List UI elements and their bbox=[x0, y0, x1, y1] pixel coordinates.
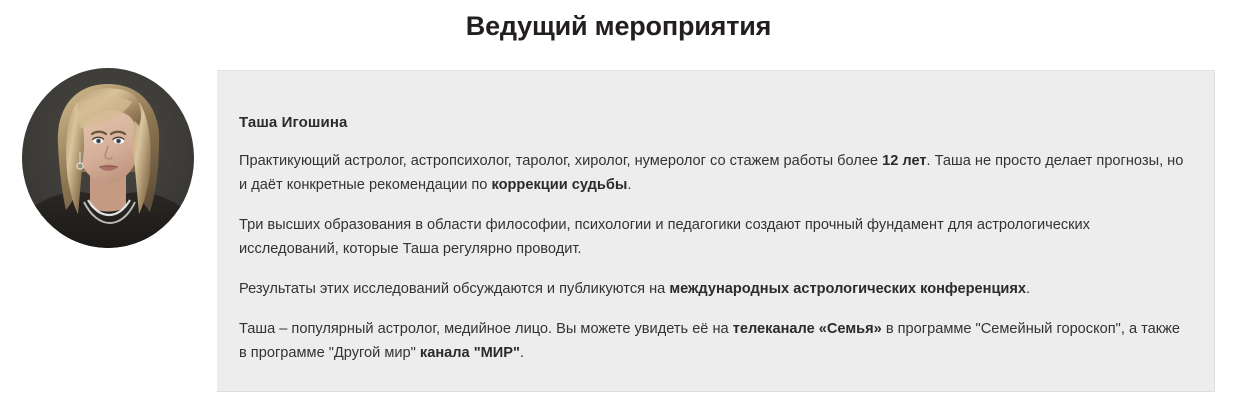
presenter-name: Таша Игошина bbox=[239, 113, 1188, 133]
presenter-section: Ведущий мероприятия bbox=[0, 0, 1237, 412]
bio-text-run: Таша – популярный астролог, медийное лиц… bbox=[239, 321, 733, 337]
bio-paragraph-media: Таша – популярный астролог, медийное лиц… bbox=[239, 317, 1188, 365]
bio-text-run: . bbox=[627, 177, 631, 193]
bio-emphasis: 12 лет bbox=[882, 153, 926, 169]
bio-text-run: Практикующий астролог, астропсихолог, та… bbox=[239, 153, 882, 169]
bio-paragraph-experience: Практикующий астролог, астропсихолог, та… bbox=[239, 149, 1188, 197]
page-title: Ведущий мероприятия bbox=[0, 8, 1237, 44]
presenter-bio-panel: Таша Игошина Практикующий астролог, астр… bbox=[217, 70, 1215, 392]
bio-emphasis: коррекции судьбы bbox=[491, 177, 627, 193]
bio-text-run: . bbox=[1026, 281, 1030, 297]
bio-emphasis: канала "МИР" bbox=[420, 345, 520, 361]
presenter-bio-text: Практикующий астролог, астропсихолог, та… bbox=[239, 149, 1188, 365]
bio-emphasis: телеканале «Семья» bbox=[733, 321, 882, 337]
bio-paragraph-research: Результаты этих исследований обсуждаются… bbox=[239, 277, 1188, 301]
presenter-portrait-photo bbox=[22, 68, 194, 248]
bio-text-run: . bbox=[520, 345, 524, 361]
bio-text-run: Три высших образования в области философ… bbox=[239, 217, 1090, 257]
bio-text-run: Результаты этих исследований обсуждаются… bbox=[239, 281, 669, 297]
avatar bbox=[22, 68, 194, 248]
bio-paragraph-education: Три высших образования в области философ… bbox=[239, 213, 1188, 261]
bio-emphasis: международных астрологических конференци… bbox=[669, 281, 1026, 297]
